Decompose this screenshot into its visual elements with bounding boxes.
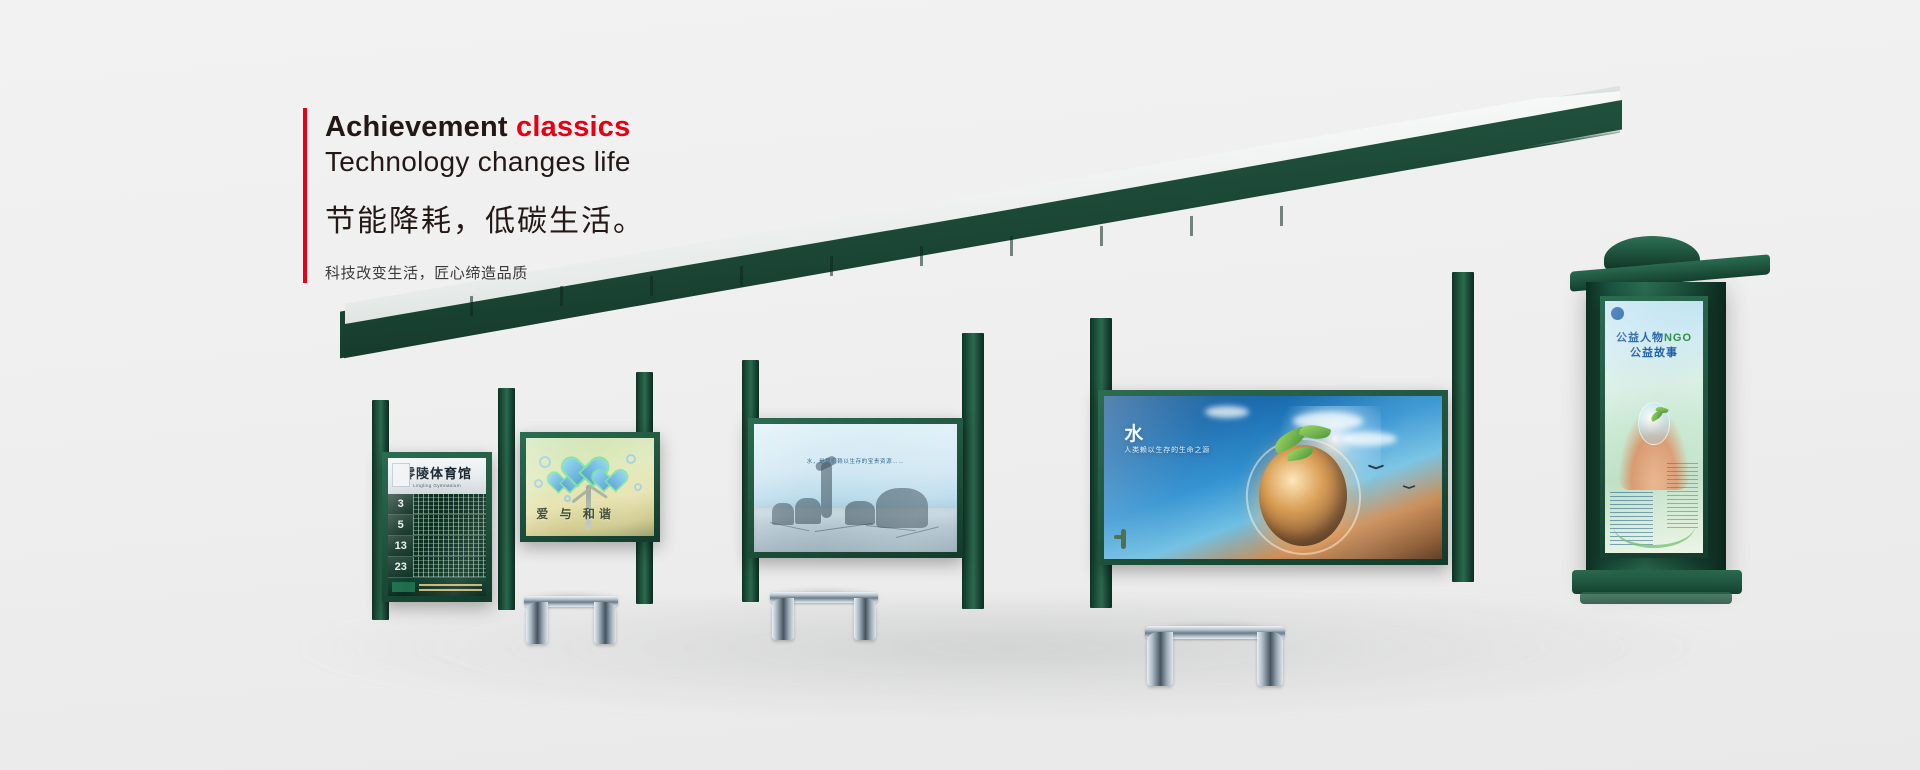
route-number: 23: [388, 557, 413, 577]
roof-rib: [650, 276, 653, 296]
bench-leg: [772, 598, 794, 640]
cloud: [1341, 432, 1397, 446]
camel-silhouette: [845, 501, 875, 525]
headline-english-accent: classics: [516, 111, 631, 143]
bird-icon: [1403, 485, 1416, 491]
bench-leg: [1147, 632, 1173, 686]
bubble-decoration: [626, 454, 636, 464]
panel-content: 零陵体育馆 Lingling Gymnasium 3 5 13: [388, 458, 486, 596]
route-number: 3: [388, 494, 413, 514]
roof-rib: [920, 246, 923, 266]
elephant-silhouette: [876, 488, 928, 528]
pylon-base-plinth: [1580, 592, 1732, 604]
poster-caption: 水，是我们赖以生存的宝贵资源……: [807, 457, 905, 465]
roof-rib: [740, 266, 743, 286]
brand-logo-icon: [1611, 307, 1633, 325]
route-stop-grid: [413, 494, 486, 514]
roof-rib: [470, 296, 473, 316]
route-stop-grid: [413, 557, 486, 577]
headline-english-secondary: Technology changes life: [325, 144, 645, 180]
poster-ribbon: [1613, 503, 1695, 548]
cloud: [1205, 406, 1249, 418]
route-stop-grid: [413, 515, 486, 535]
poster-heart-tree: 爱 与 和谐: [526, 438, 654, 536]
footer-badge: [392, 582, 416, 593]
animal-silhouette: [795, 498, 821, 524]
poster-title: 公益人物NGO 公益故事: [1610, 331, 1698, 361]
bubble-decoration: [539, 456, 551, 468]
bench-leg: [594, 602, 616, 644]
route-stop-grid: [413, 536, 486, 556]
roof-rib: [1010, 236, 1013, 256]
giraffe-silhouette: [821, 462, 832, 518]
roof-rib: [560, 286, 563, 306]
poster-title: 水: [1124, 419, 1143, 446]
panel-desert-animals[interactable]: 水，是我们赖以生存的宝贵资源……: [748, 418, 963, 558]
bird-icon: [1368, 464, 1384, 471]
shelter-post: [498, 388, 515, 610]
cactus-arm: [1114, 535, 1123, 539]
poster-title-accent: NGO: [1664, 332, 1692, 344]
poster-desert-animals: 水，是我们赖以生存的宝贵资源……: [754, 424, 957, 552]
headline-lines: Achievement classics Technology changes …: [325, 108, 645, 283]
roof-rib: [1100, 226, 1103, 246]
bench-leg: [526, 602, 548, 644]
pylon-base: [1572, 570, 1742, 594]
bubble-decoration: [564, 495, 571, 502]
panel-vertical-eco[interactable]: 公益人物NGO 公益故事: [1600, 296, 1708, 558]
bench-leg: [1257, 632, 1283, 686]
schedule-rows: 3 5 13 23: [388, 494, 486, 578]
panel-schedule-board[interactable]: 零陵体育馆 Lingling Gymnasium 3 5 13: [382, 452, 492, 602]
cactus: [1121, 529, 1126, 549]
poster-vertical-eco: 公益人物NGO 公益故事: [1605, 301, 1703, 553]
shelter-post: [1452, 272, 1474, 582]
ground-shadow: [300, 600, 1720, 720]
station-name-en: Lingling Gymnasium: [413, 483, 461, 488]
schedule-row: 23: [388, 557, 486, 578]
roof-rib: [1190, 216, 1193, 236]
panel-content: 水，是我们赖以生存的宝贵资源……: [754, 424, 957, 552]
headline-english-primary: Achievement classics: [325, 110, 645, 144]
panel-content: 爱 与 和谐: [526, 438, 654, 536]
animal-silhouette: [772, 503, 794, 525]
product-scene: 零陵体育馆 Lingling Gymnasium 3 5 13: [0, 0, 1920, 770]
headline-chinese-primary: 节能降耗，低碳生活。: [325, 196, 645, 240]
headline-english-main: Achievement: [325, 111, 516, 143]
schedule-logo-box: [392, 463, 410, 487]
schedule-footer: [388, 578, 486, 596]
panel-water-sprout[interactable]: 水 人类赖以生存的生命之源: [1098, 390, 1448, 565]
heart-icon: [603, 470, 627, 491]
headline-chinese-secondary: 科技改变生活，匠心缔造品质: [325, 262, 645, 283]
accent-bar: [303, 108, 307, 283]
schedule-face: 零陵体育馆 Lingling Gymnasium 3 5 13: [388, 458, 486, 596]
shelter-post: [962, 333, 984, 609]
poster-title-line2: 公益故事: [1630, 347, 1678, 359]
poster-title-line1: 公益人物: [1616, 332, 1664, 344]
earth-globe: [1259, 445, 1347, 546]
schedule-row: 5: [388, 515, 486, 536]
station-name-cn: 零陵体育馆: [402, 463, 472, 482]
poster-water-sprout: 水 人类赖以生存的生命之源: [1104, 396, 1442, 559]
schedule-header: 零陵体育馆 Lingling Gymnasium: [388, 458, 486, 494]
schedule-row: 13: [388, 536, 486, 557]
bench-leg: [854, 598, 876, 640]
poster-caption: 人类赖以生存的生命之源: [1124, 445, 1210, 455]
roof-rib: [830, 256, 833, 276]
panel-heart-tree[interactable]: 爱 与 和谐: [520, 432, 660, 542]
route-number: 13: [388, 536, 413, 556]
panel-content: 水 人类赖以生存的生命之源: [1104, 396, 1442, 559]
banner-headline-block: Achievement classics Technology changes …: [303, 108, 645, 283]
route-number: 5: [388, 515, 413, 535]
panel-content: 公益人物NGO 公益故事: [1605, 301, 1703, 553]
schedule-row: 3: [388, 494, 486, 515]
footer-notice-text: [419, 583, 482, 590]
poster-caption: 爱 与 和谐: [536, 505, 615, 522]
bubble-decoration: [634, 483, 642, 491]
bubble-decoration: [534, 479, 543, 488]
roof-rib: [1280, 206, 1283, 226]
